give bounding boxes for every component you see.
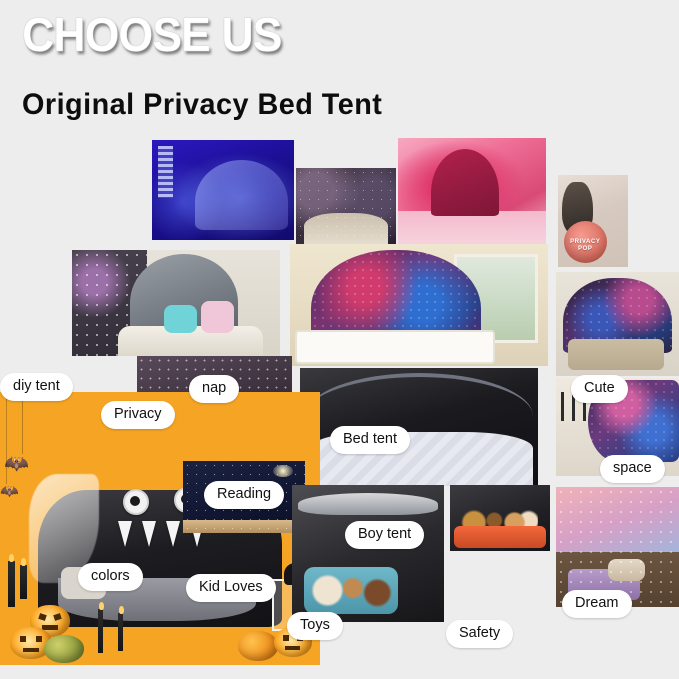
monster-eye-left-icon [123,489,149,515]
monster-tooth [118,521,132,547]
label-space[interactable]: space [600,455,665,483]
label-toys[interactable]: Toys [287,612,343,640]
poster-canvas: CHOOSE US Original Privacy Bed Tent PRIV… [0,0,679,679]
page-title: CHOOSE US [22,8,282,63]
photo-pink-tent-bed [398,138,546,246]
page-subtitle: Original Privacy Bed Tent [22,88,382,122]
label-cute[interactable]: Cute [571,375,628,403]
candle [118,613,123,651]
photo-safety-orange [450,485,550,551]
monster-tooth [142,521,156,547]
label-nap[interactable]: nap [189,375,239,403]
photo-black-bed-tent [300,368,538,486]
bag-logo-line2: POP [578,246,592,252]
photo-blacklight-bedroom [152,140,294,240]
label-diy-tent[interactable]: diy tent [0,373,73,401]
label-colors[interactable]: colors [78,563,143,591]
label-dream[interactable]: Dream [562,590,632,618]
pumpkin [238,631,278,661]
photo-galaxy-bright-room [290,244,548,366]
bat-icon: 🦇 [4,454,29,474]
photo-dream-pastel [556,487,679,607]
label-boy-tent[interactable]: Boy tent [345,521,424,549]
label-reading[interactable]: Reading [204,481,284,509]
photo-camper-kids [72,250,280,356]
label-bed-tent[interactable]: Bed tent [330,426,410,454]
monster-tooth [166,521,180,547]
photo-galaxy-room-night [296,168,396,246]
label-privacy[interactable]: Privacy [101,401,175,429]
label-kid-loves[interactable]: Kid Loves [186,574,276,602]
privacy-pop-logo: PRIVACY POP [564,221,607,263]
candle [20,565,27,599]
candle [8,561,15,607]
photo-privacy-pop-bag: PRIVACY POP [558,175,628,267]
bag-logo-line1: PRIVACY [570,239,600,245]
bat-icon: 🦇 [0,484,19,499]
candle [98,609,103,653]
photo-cute-galaxy-bed [556,272,679,376]
photo-boy-tent-plush [292,485,444,622]
label-safety[interactable]: Safety [446,620,513,648]
pumpkin [44,635,84,663]
